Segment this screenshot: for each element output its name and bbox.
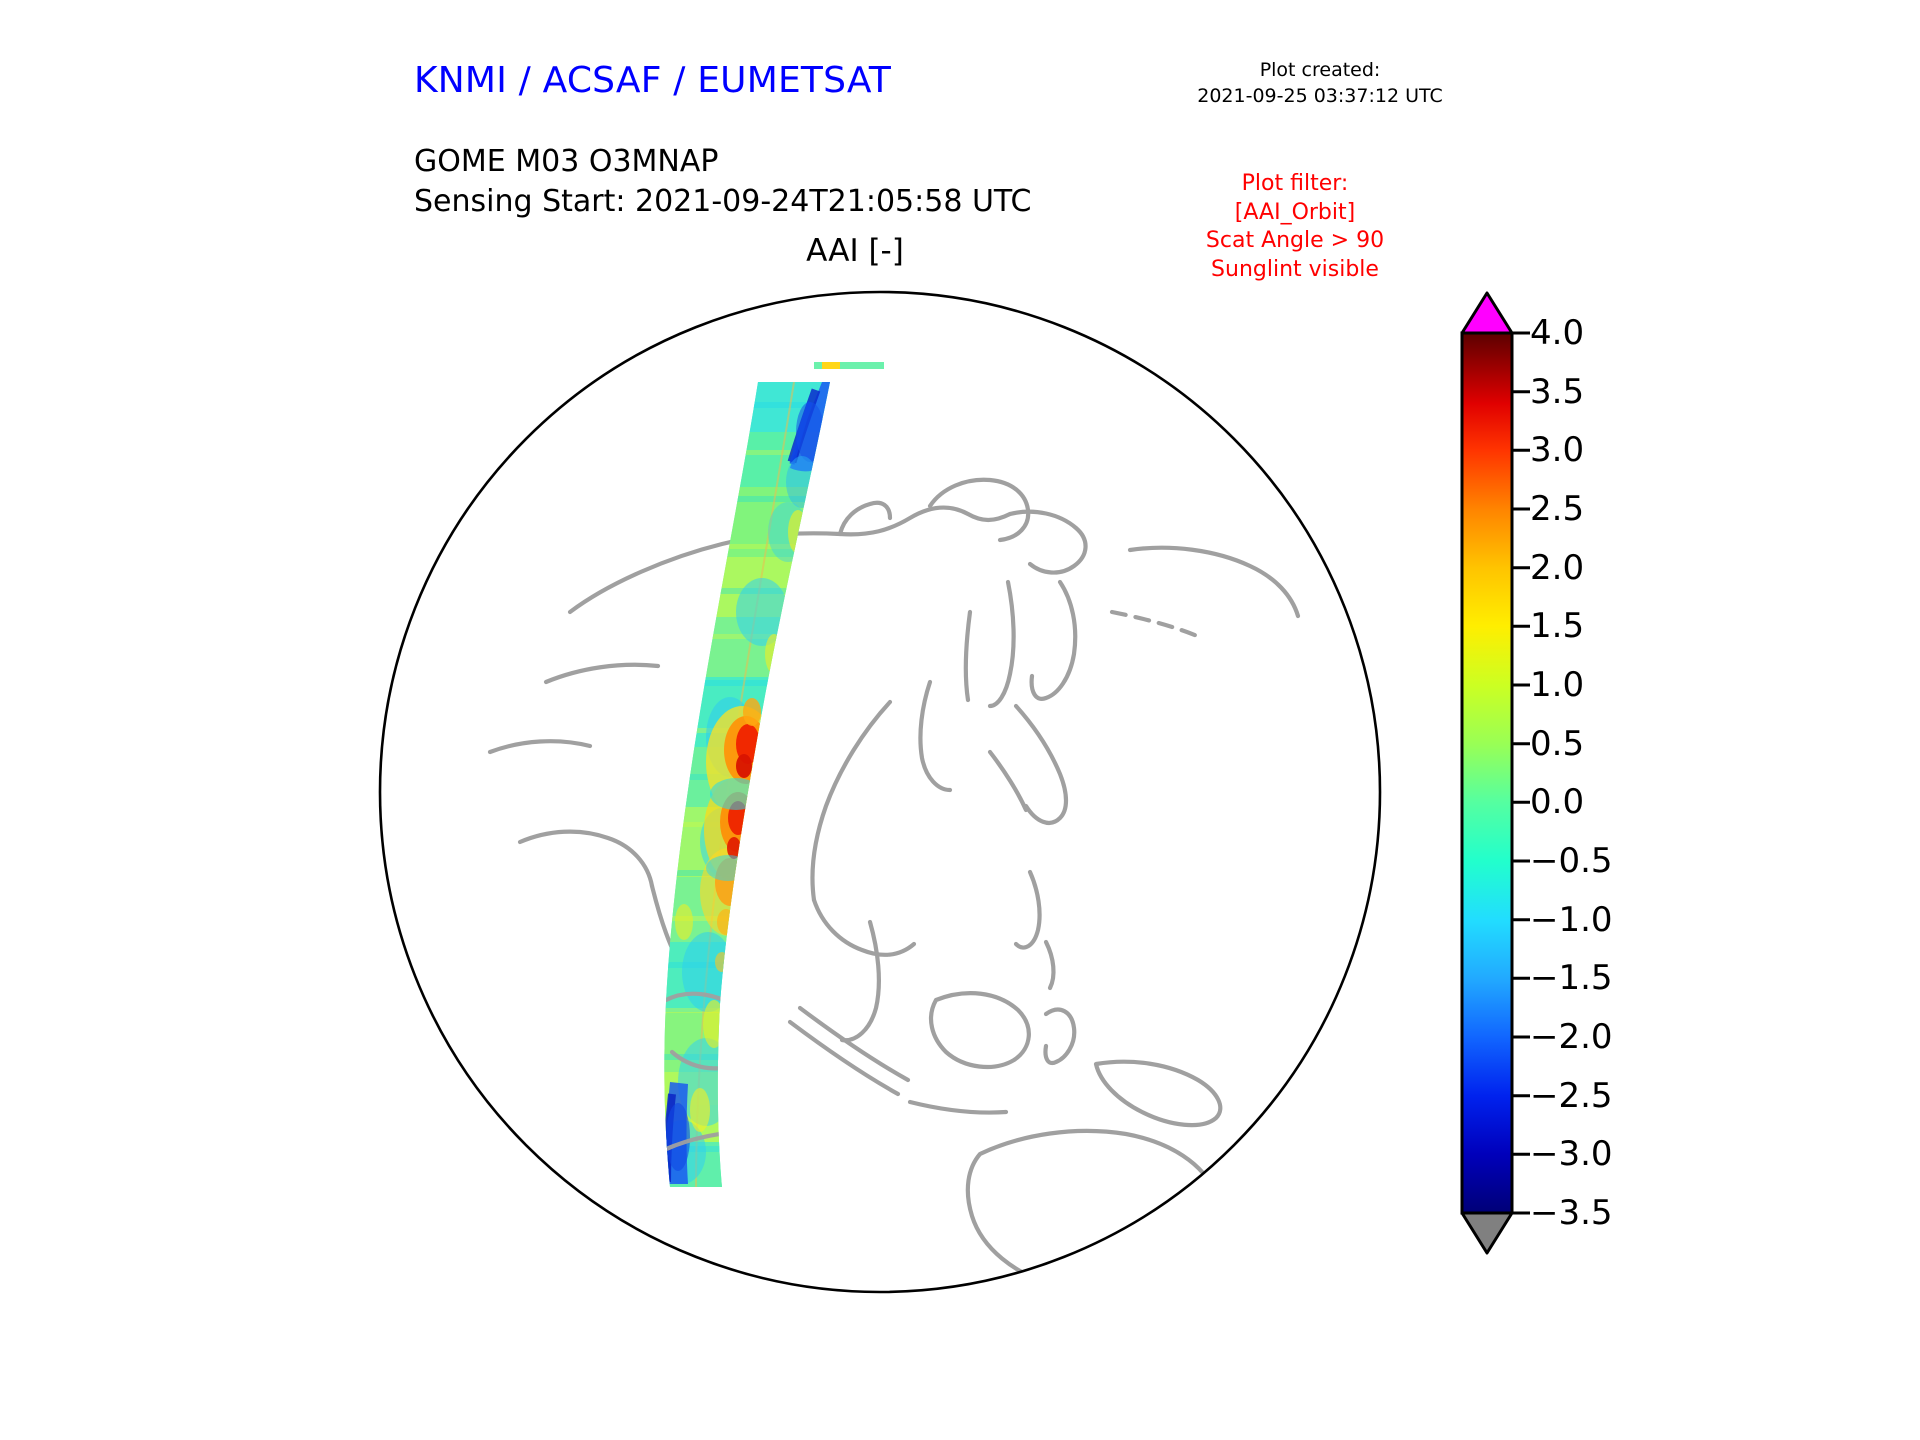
colorbar-tick-label: 3.5 (1530, 372, 1584, 412)
swath-fragment-north (814, 362, 884, 369)
colorbar-tick-label: −2.5 (1530, 1076, 1613, 1116)
map-panel (370, 282, 1390, 1302)
plot-filter-block: Plot filter: [AAI_Orbit] Scat Angle > 90… (1140, 170, 1450, 284)
colorbar-graphic (1442, 285, 1532, 1305)
colorbar-ticks (1512, 333, 1530, 1213)
plot-created-block: Plot created: 2021-09-25 03:37:12 UTC (1160, 58, 1480, 109)
product-info-block: GOME M03 O3MNAP Sensing Start: 2021-09-2… (414, 142, 1031, 222)
colorbar-gradient (1462, 333, 1512, 1213)
plot-created-timestamp: 2021-09-25 03:37:12 UTC (1160, 84, 1480, 110)
plot-filter-sunglint: Sunglint visible (1140, 256, 1450, 285)
colorbar-tick-label: −1.0 (1530, 900, 1613, 940)
organisation-title: KNMI / ACSAF / EUMETSAT (414, 60, 891, 101)
plot-filter-scat-angle: Scat Angle > 90 (1140, 227, 1450, 256)
plot-canvas: KNMI / ACSAF / EUMETSAT Plot created: 20… (0, 0, 1920, 1440)
colorbar-over-arrow (1462, 293, 1512, 333)
colorbar-tick-label: 1.0 (1530, 665, 1584, 705)
colorbar-tick-label: −3.0 (1530, 1134, 1613, 1174)
colorbar-tick-label: 4.0 (1530, 313, 1584, 353)
globe-map (370, 282, 1390, 1302)
colorbar-tick-label: 0.0 (1530, 782, 1584, 822)
colorbar: 4.03.53.02.52.01.51.00.50.0−0.5−1.0−1.5−… (1442, 285, 1822, 1305)
colorbar-tick-label: 2.0 (1530, 548, 1584, 588)
colorbar-tick-label: −3.5 (1530, 1193, 1613, 1233)
plot-filter-label: Plot filter: (1140, 170, 1450, 199)
colorbar-under-arrow (1462, 1213, 1512, 1253)
colorbar-tick-label: −1.5 (1530, 958, 1613, 998)
colorbar-tick-label: 3.0 (1530, 430, 1584, 470)
colorbar-tick-labels: 4.03.53.02.52.01.51.00.50.0−0.5−1.0−1.5−… (1530, 285, 1680, 1305)
product-name: GOME M03 O3MNAP (414, 142, 1031, 182)
quantity-title: AAI [-] (690, 233, 1020, 269)
colorbar-tick-label: 0.5 (1530, 724, 1584, 764)
colorbar-tick-label: −2.0 (1530, 1017, 1613, 1057)
colorbar-tick-label: 2.5 (1530, 489, 1584, 529)
colorbar-tick-label: −0.5 (1530, 841, 1613, 881)
plot-filter-dataset: [AAI_Orbit] (1140, 199, 1450, 228)
sensing-start: Sensing Start: 2021-09-24T21:05:58 UTC (414, 182, 1031, 222)
plot-created-label: Plot created: (1160, 58, 1480, 84)
globe-disc (380, 292, 1380, 1292)
colorbar-tick-label: 1.5 (1530, 606, 1584, 646)
